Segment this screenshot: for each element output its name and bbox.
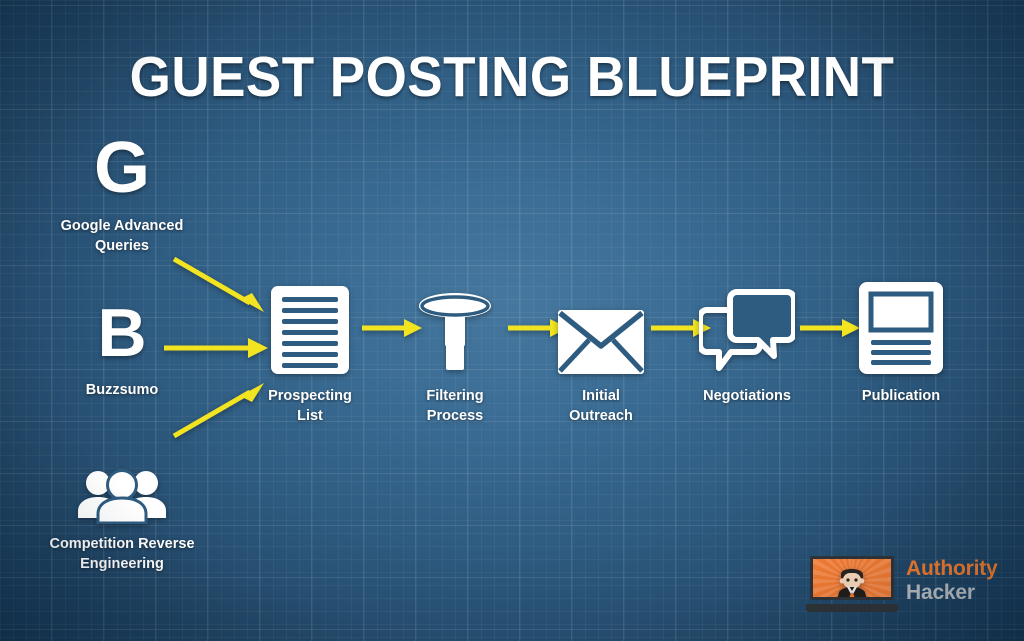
logo-line-hacker: Hacker bbox=[906, 581, 998, 605]
logo-line-authority: Authority bbox=[906, 557, 998, 581]
publication-page-icon bbox=[826, 282, 976, 374]
stage-prospecting-list: Prospecting List bbox=[230, 286, 390, 426]
stage-label: Initial Outreach bbox=[526, 386, 676, 426]
google-g-icon: G bbox=[22, 140, 222, 204]
stage-label: Filtering Process bbox=[380, 386, 530, 426]
source-google-advanced-queries: G Google Advanced Queries bbox=[22, 140, 222, 256]
infographic-canvas: GUEST POSTING BLUEPRINT G Google Advance… bbox=[0, 0, 1024, 641]
logo-wordmark: Authority Hacker bbox=[906, 557, 998, 605]
stage-filtering-process: Filtering Process bbox=[380, 286, 530, 426]
stage-publication: Publication bbox=[826, 282, 976, 406]
source-label: Competition Reverse Engineering bbox=[22, 534, 222, 574]
source-competition-reverse-engineering: Competition Reverse Engineering bbox=[22, 462, 222, 574]
stage-label: Negotiations bbox=[672, 386, 822, 406]
authority-hacker-logo[interactable]: Authority Hacker bbox=[806, 552, 1018, 620]
stage-initial-outreach: Initial Outreach bbox=[526, 286, 676, 426]
google-g-glyph: G bbox=[94, 132, 150, 204]
buzzsumo-b-glyph: B bbox=[97, 299, 146, 367]
people-group-icon bbox=[22, 462, 222, 524]
laptop-mascot-icon bbox=[806, 556, 898, 612]
stage-negotiations: Negotiations bbox=[672, 282, 822, 406]
source-label: Google Advanced Queries bbox=[22, 216, 222, 256]
stage-label: Publication bbox=[826, 386, 976, 406]
page-title: GUEST POSTING BLUEPRINT bbox=[36, 44, 988, 110]
stage-label: Prospecting List bbox=[230, 386, 390, 426]
